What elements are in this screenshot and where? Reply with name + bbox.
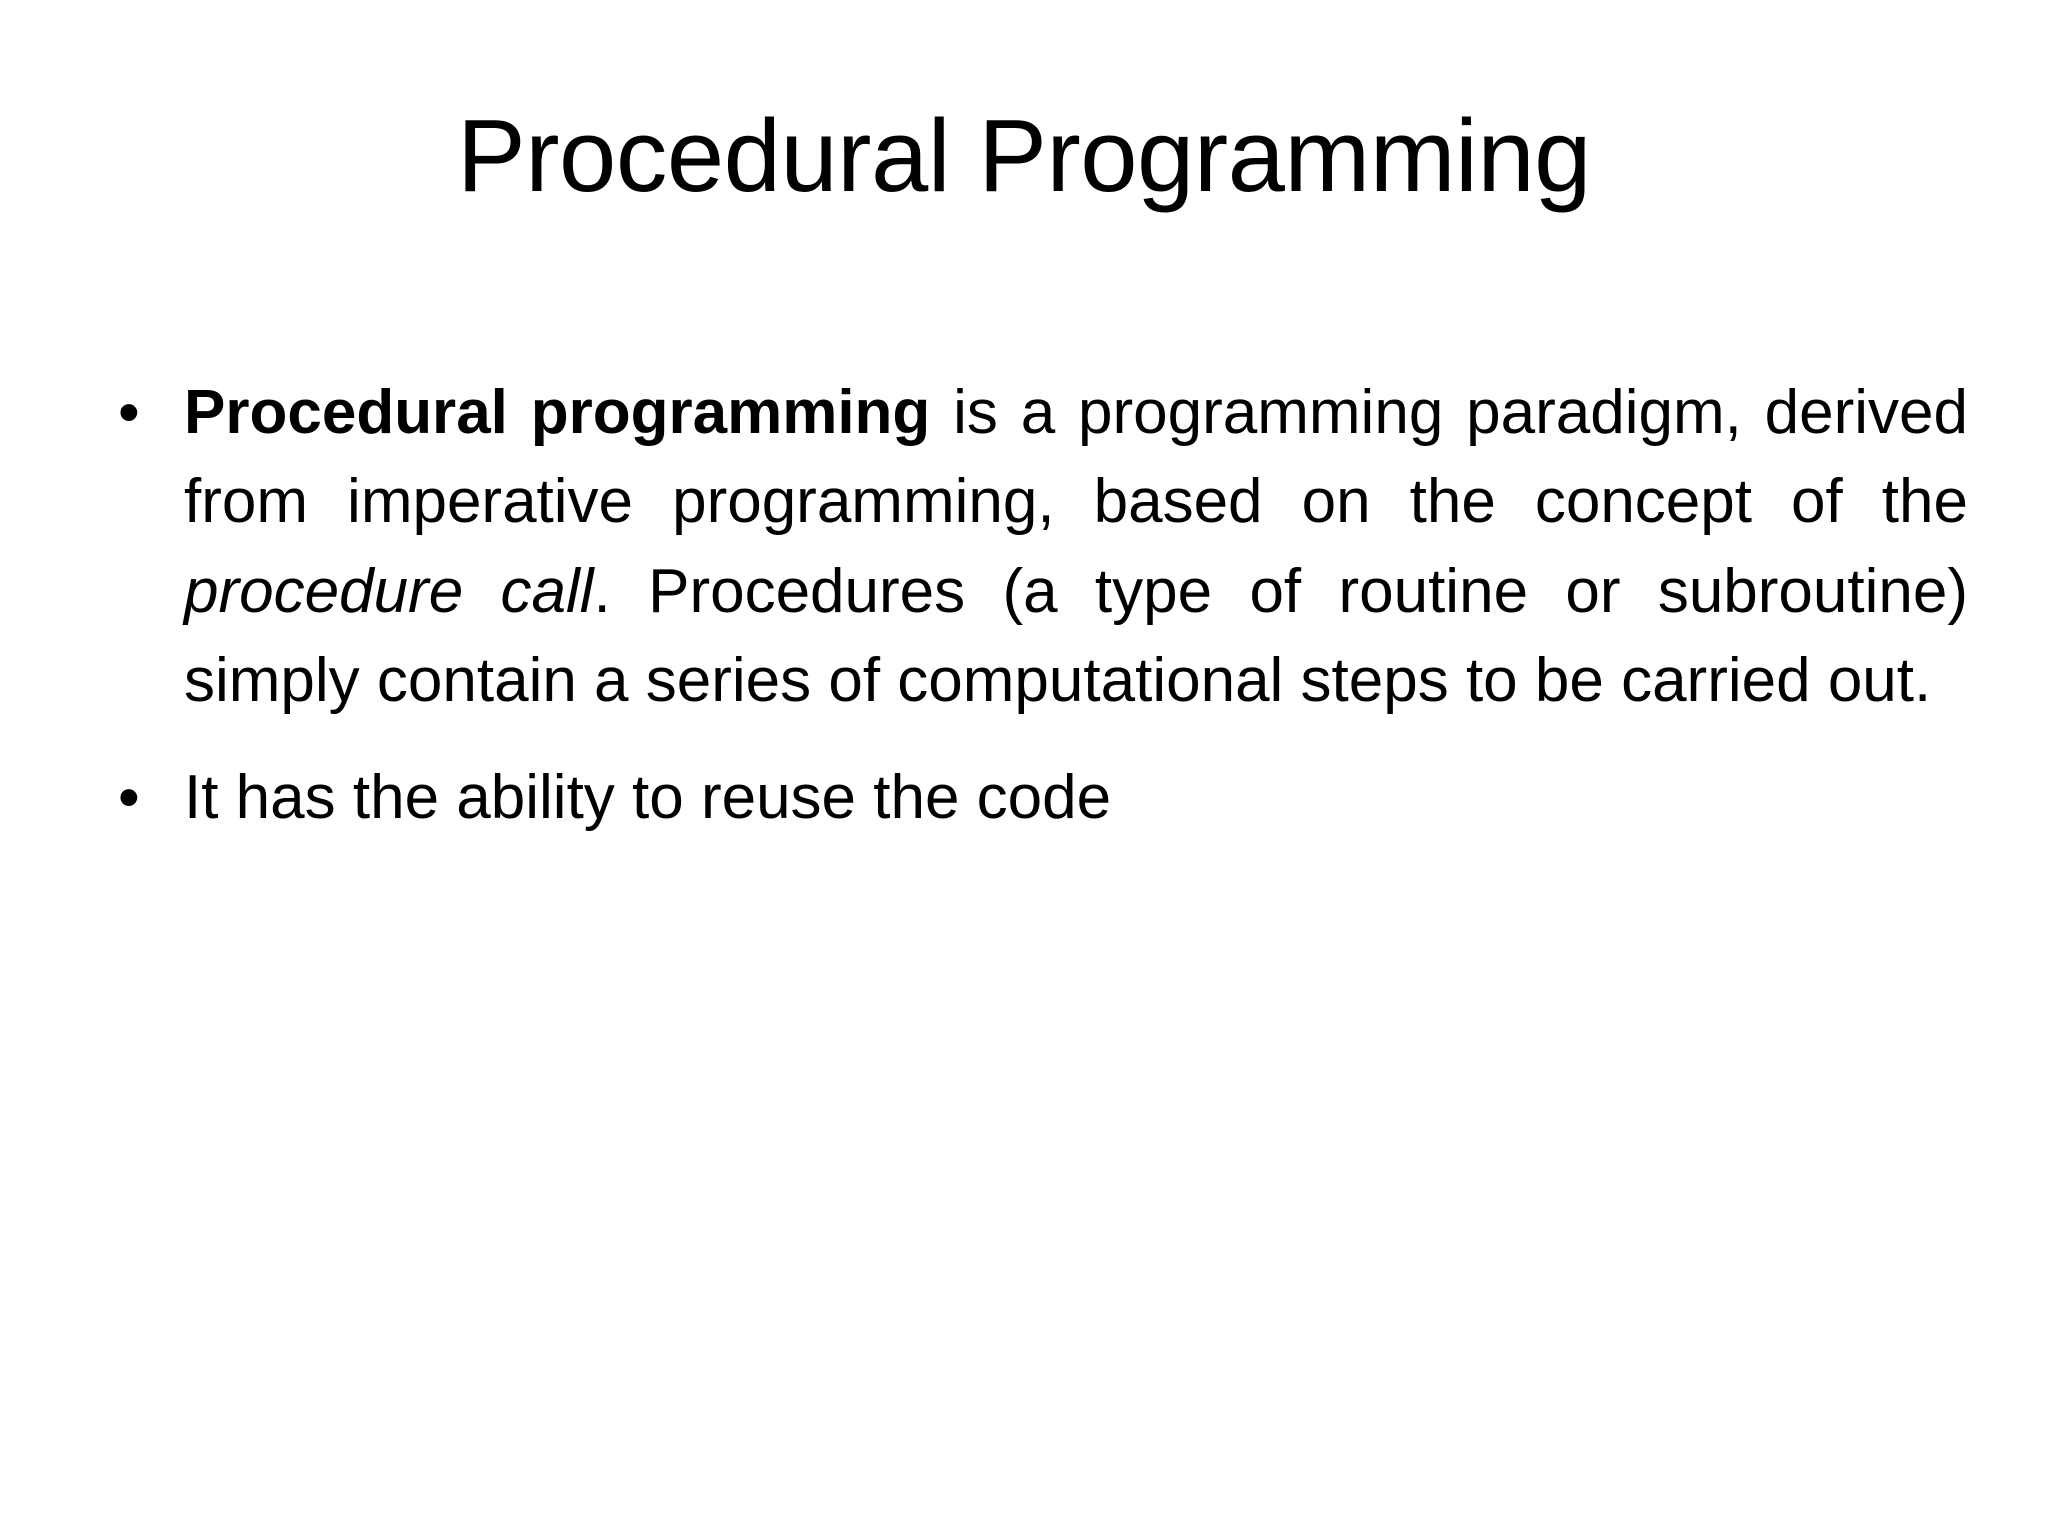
- bullet-point-icon: •: [100, 753, 184, 842]
- run-normal-reuse: It has the ability to reuse the code: [184, 763, 1111, 832]
- bullet-definition-text: Procedural programming is a programming …: [184, 368, 1968, 725]
- page-title: Procedural Programming: [0, 96, 2048, 215]
- bullet-point-icon: •: [100, 368, 184, 457]
- run-bold-procedural-programming: Procedural programming: [184, 378, 930, 447]
- list-item[interactable]: • It has the ability to reuse the code: [100, 753, 1968, 842]
- slide-body: • Procedural programming is a programmin…: [100, 368, 1968, 842]
- list-item[interactable]: • Procedural programming is a programmin…: [100, 368, 1968, 725]
- bullet-reuse-text: It has the ability to reuse the code: [184, 753, 1968, 842]
- slide-canvas: Procedural Programming • Procedural prog…: [0, 0, 2048, 1536]
- run-italic-procedure-call: procedure call: [184, 557, 594, 626]
